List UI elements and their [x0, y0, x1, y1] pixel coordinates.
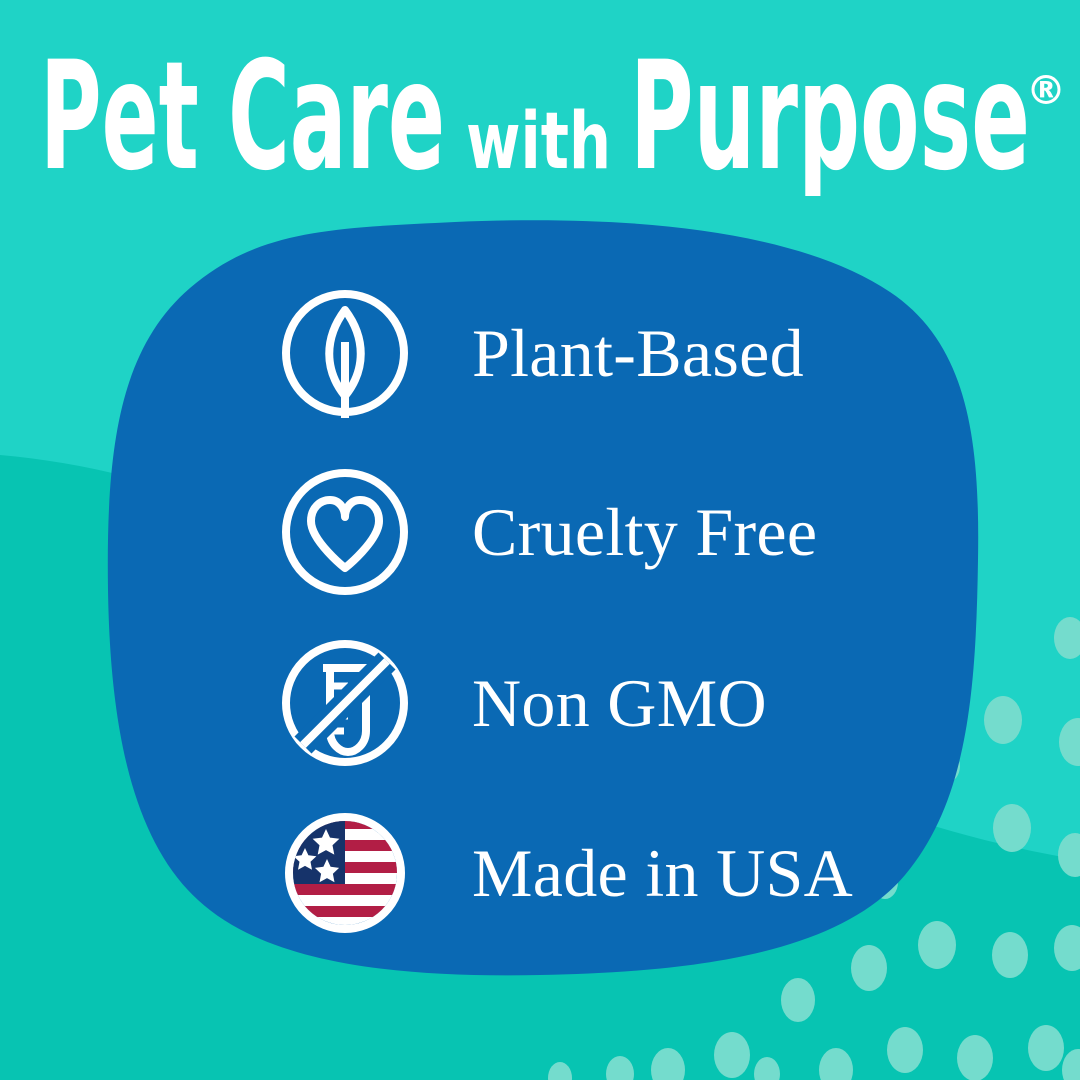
benefit-row-made-in-usa: Made in USA: [278, 803, 853, 943]
benefit-list: Plant-Based Cruelty Free: [0, 0, 1080, 1080]
no-test-tube-icon: [278, 636, 412, 770]
promo-graphic: Pet Care with Purpose ® Plant-Based: [0, 0, 1080, 1080]
benefit-row-plant-based: Plant-Based: [278, 283, 804, 423]
leaf-in-circle-icon: [278, 286, 412, 420]
usa-flag-circle-icon: [278, 806, 412, 940]
benefit-row-non-gmo: Non GMO: [278, 633, 767, 773]
benefit-label: Plant-Based: [472, 319, 804, 387]
benefit-row-cruelty-free: Cruelty Free: [278, 462, 817, 602]
benefit-label: Cruelty Free: [472, 498, 817, 566]
benefit-label: Made in USA: [472, 839, 853, 907]
benefit-label: Non GMO: [472, 669, 767, 737]
heart-in-circle-icon: [278, 465, 412, 599]
